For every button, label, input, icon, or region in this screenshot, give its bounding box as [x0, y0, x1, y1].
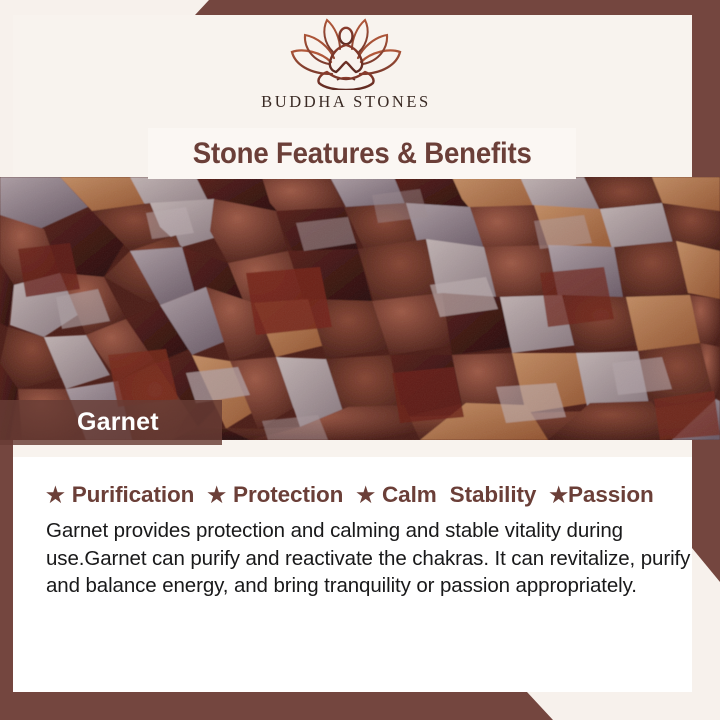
left-frame-bar [0, 398, 13, 720]
benefit-label: Passion [568, 482, 654, 507]
brand-name: BUDDHA STONES [0, 92, 692, 112]
star-icon: ★ [46, 484, 65, 507]
page-title: Stone Features & Benefits [193, 137, 532, 171]
benefit-label: Calm [382, 482, 437, 507]
title-banner: Stone Features & Benefits [148, 128, 576, 179]
infographic-card: BUDDHA STONES Stone Features & Benefits [0, 0, 720, 720]
star-icon: ★ [549, 484, 568, 507]
star-icon: ★ [207, 484, 226, 507]
brand-logo-block: BUDDHA STONES [0, 12, 692, 112]
benefit-label: Protection [233, 482, 343, 507]
bottom-frame-bar [0, 692, 720, 720]
lotus-meditation-icon [271, 12, 421, 90]
content-panel: ★Purification★Protection★CalmStability★P… [13, 457, 692, 692]
benefit-label: Purification [72, 482, 195, 507]
stone-name-tag: Garnet [0, 400, 222, 445]
benefits-list: ★Purification★Protection★CalmStability★P… [46, 482, 686, 508]
stone-name: Garnet [0, 408, 159, 437]
star-icon: ★ [356, 484, 375, 507]
stone-description: Garnet provides protection and calming a… [46, 517, 692, 600]
benefit-label: Stability [450, 482, 537, 507]
